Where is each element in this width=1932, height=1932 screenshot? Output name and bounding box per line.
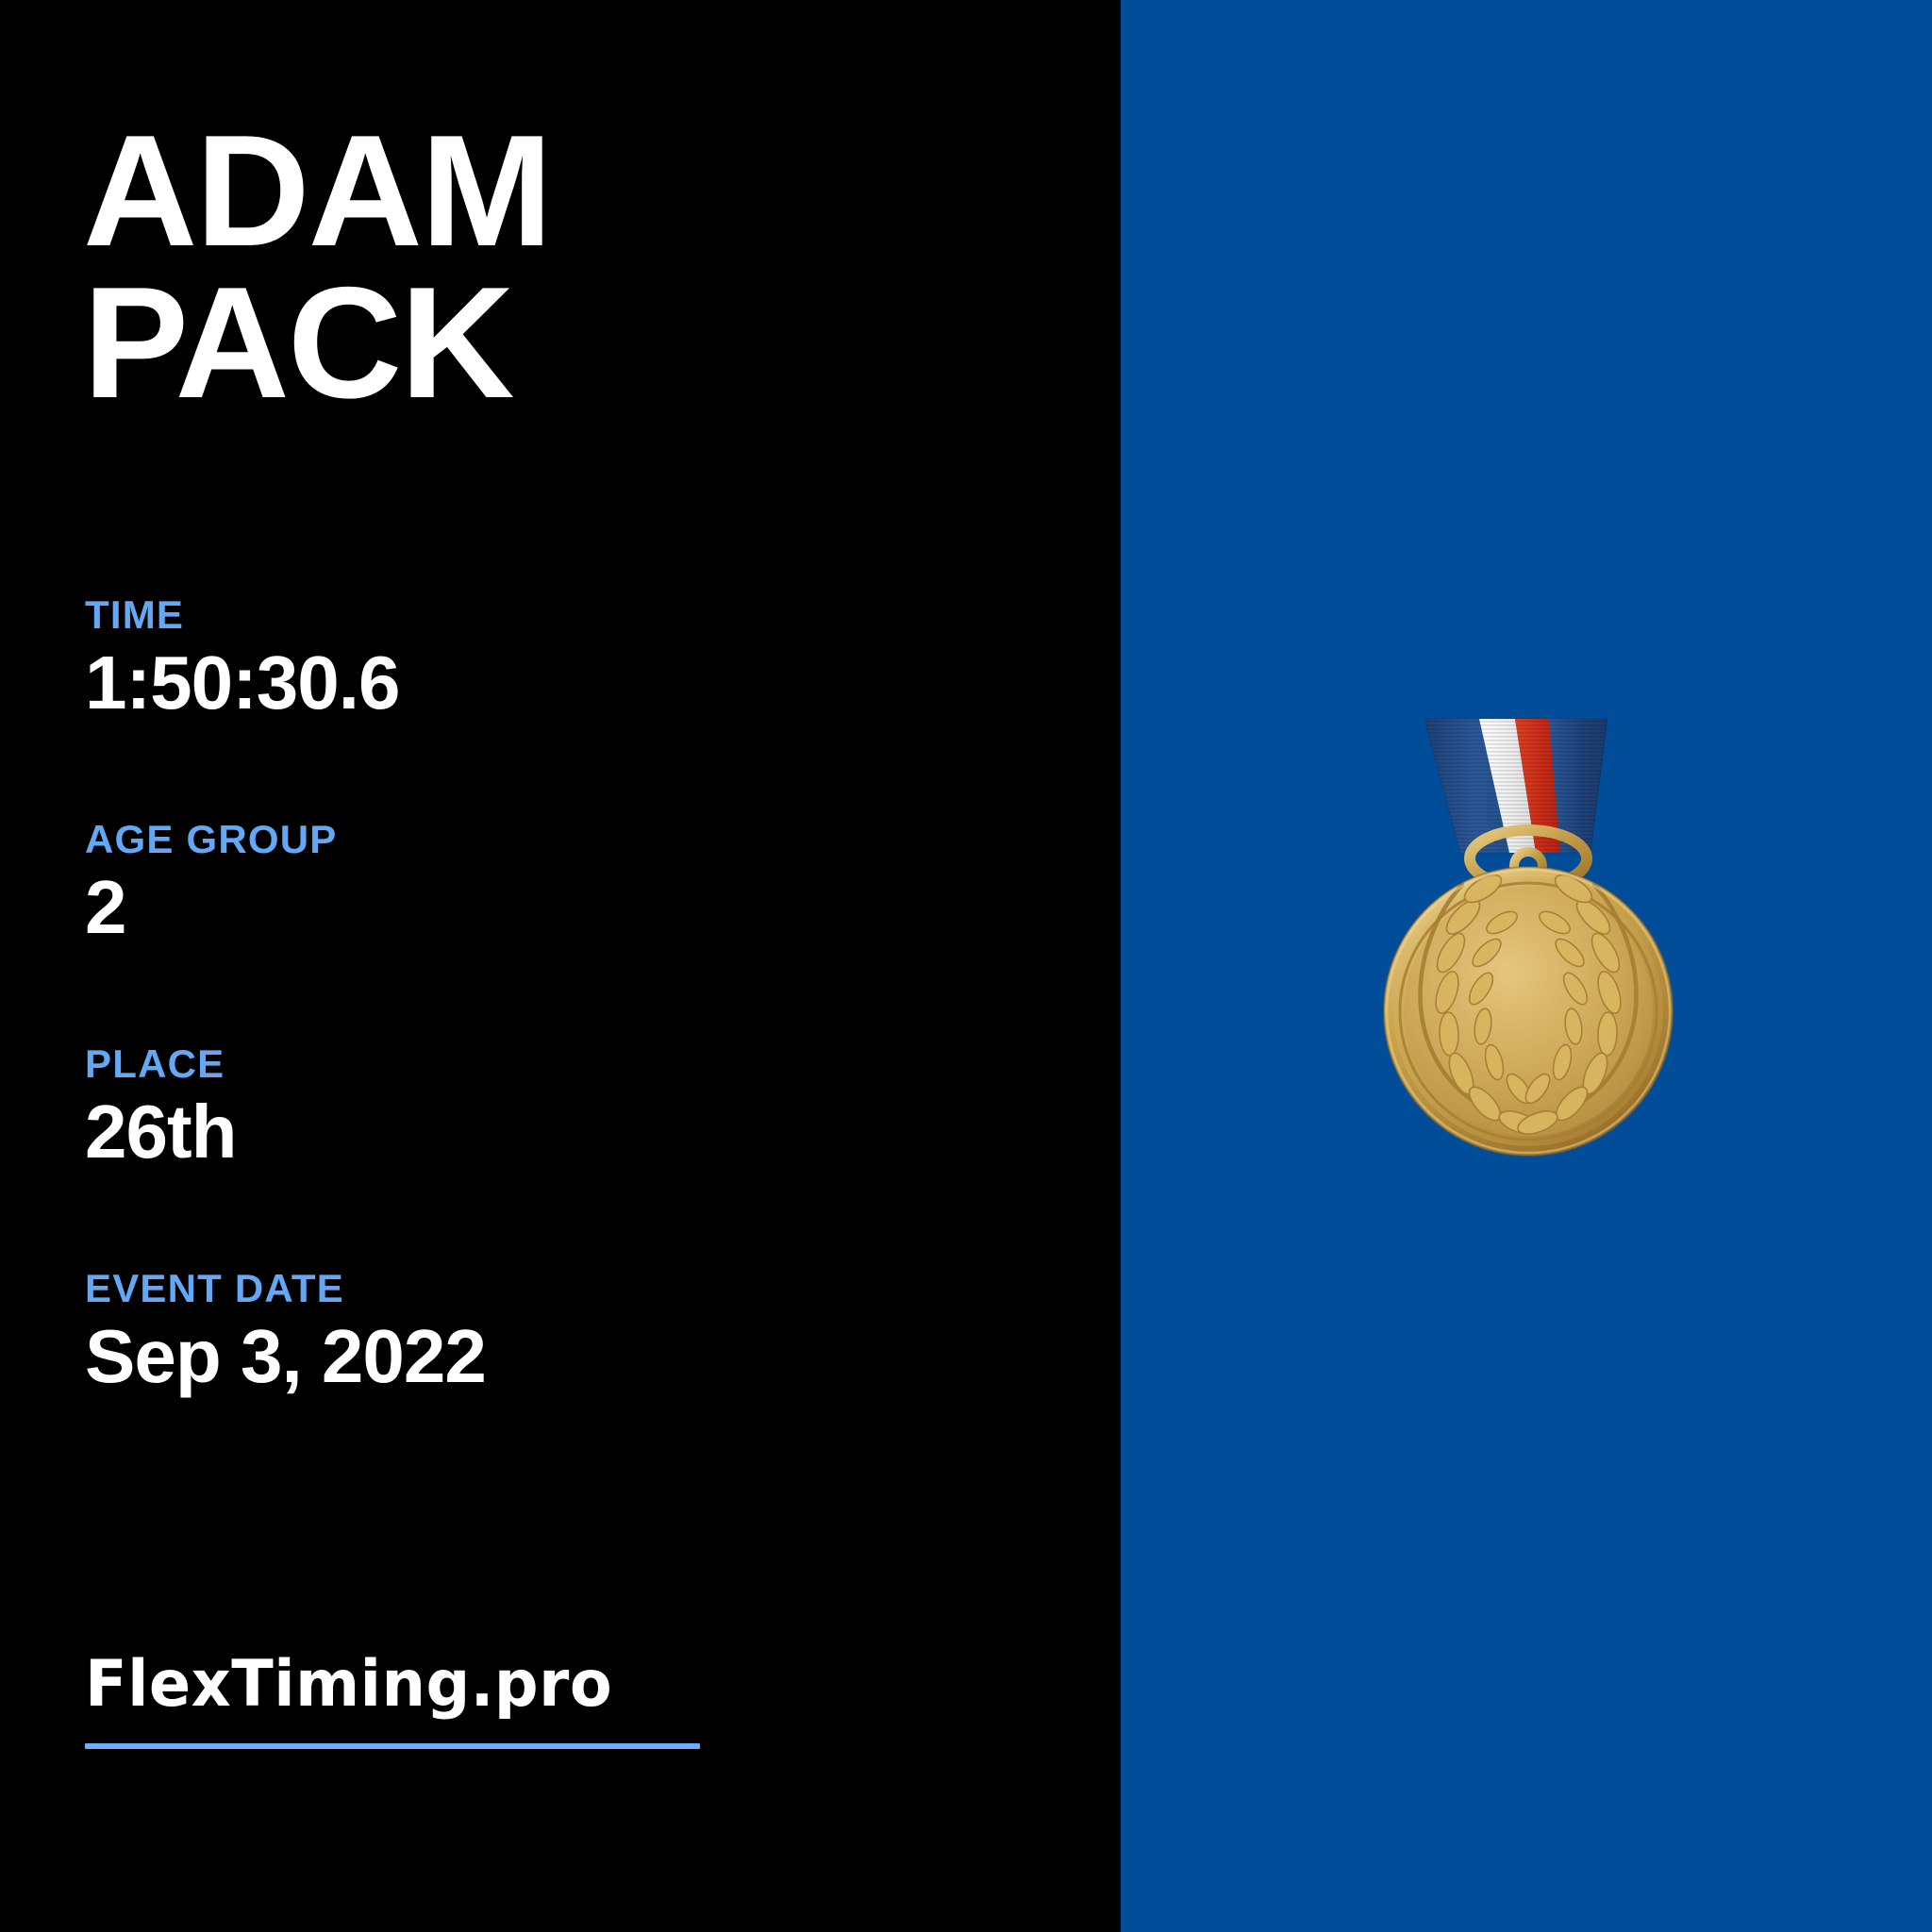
stat-label-place: PLACE	[85, 1043, 1028, 1085]
stat-age-group: AGE GROUP 2	[85, 819, 1028, 947]
gold-medal-icon	[1368, 709, 1689, 1162]
athlete-name: ADAM PACK	[83, 115, 1026, 420]
stat-label-age-group: AGE GROUP	[85, 819, 1028, 860]
medal-disc	[1384, 867, 1673, 1156]
gold-medal-svg	[1368, 709, 1689, 1162]
result-card: ADAM PACK TIME 1:50:30.6 AGE GROUP 2 PLA…	[0, 0, 1932, 1932]
stat-event-date: EVENT DATE Sep 3, 2022	[85, 1268, 1028, 1396]
stat-value-place: 26th	[85, 1092, 1028, 1172]
stat-value-time: 1:50:30.6	[85, 643, 1028, 723]
stats-list: TIME 1:50:30.6 AGE GROUP 2 PLACE 26th EV…	[85, 594, 1028, 1396]
stat-label-event-date: EVENT DATE	[85, 1268, 1028, 1309]
stat-time: TIME 1:50:30.6	[85, 594, 1028, 723]
stat-place: PLACE 26th	[85, 1043, 1028, 1172]
stat-value-event-date: Sep 3, 2022	[85, 1317, 1028, 1396]
stat-label-time: TIME	[85, 594, 1028, 636]
brand-underline-rule	[85, 1743, 700, 1749]
stat-value-age-group: 2	[85, 868, 1028, 947]
brand-name: FlexTiming.pro	[85, 1653, 719, 1717]
brand-logo[interactable]: FlexTiming.pro	[85, 1653, 745, 1749]
